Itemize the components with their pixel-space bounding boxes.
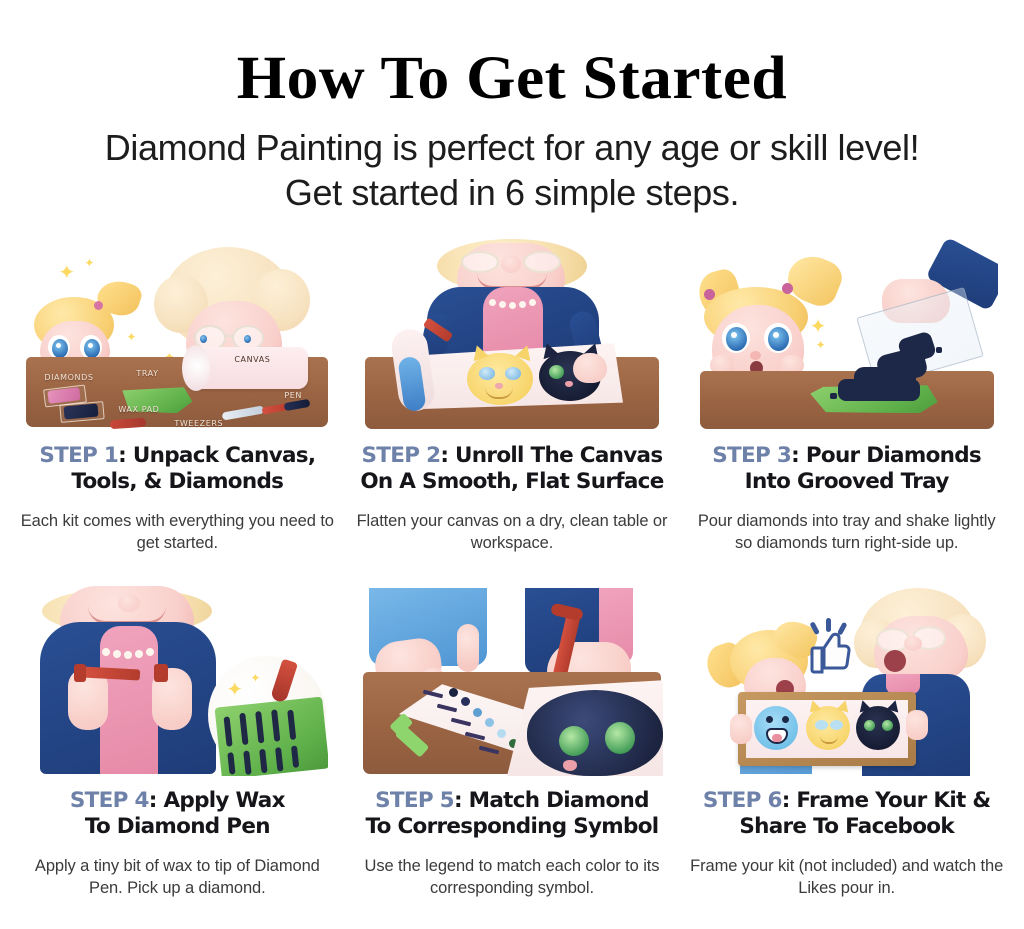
step-separator: : [440, 443, 448, 468]
step-card-2: STEP 2: Unroll The Canvas On A Smooth, F… [345, 239, 680, 584]
eyeglasses-bridge [225, 335, 233, 337]
step-description-5: Use the legend to match each color to it… [354, 855, 670, 900]
nose [904, 636, 922, 651]
girl-hand [730, 714, 752, 744]
framed-finished-painting-illustration [696, 584, 998, 776]
cat-eye [882, 720, 893, 731]
girl-eye-iris [768, 327, 789, 351]
step-title-line1: Frame Your Kit & [796, 788, 990, 813]
step-title-line1: Unroll The Canvas [455, 443, 662, 468]
matching-symbol-legend-illustration [361, 584, 663, 776]
step-title-line2: To Corresponding Symbol [366, 814, 659, 839]
step-title-line2: Share To Facebook [739, 814, 954, 839]
pouring-diamonds-into-tray-illustration: ✦ ✦ [696, 239, 998, 431]
step-description-1: Each kit comes with everything you need … [19, 510, 335, 555]
step-title-line1: Unpack Canvas, [133, 443, 315, 468]
step-card-3: ✦ ✦ [679, 239, 1014, 584]
step-separator: : [118, 443, 126, 468]
sparkle-icon: ✦ [126, 331, 136, 343]
step-title-6: STEP 6: Frame Your Kit & Share To Facebo… [692, 788, 1002, 840]
sparkle-icon: ✦ [58, 263, 75, 283]
cat-eye [605, 722, 635, 754]
pearl-necklace [102, 646, 156, 656]
grandmother-hand [906, 710, 928, 740]
step-title-line2: To Diamond Pen [85, 814, 270, 839]
black-cat-face [527, 690, 663, 776]
step-title-line2: On A Smooth, Flat Surface [360, 469, 663, 494]
step-description-2: Flatten your canvas on a dry, clean tabl… [354, 510, 670, 555]
steps-grid: ✦ ✦ ✦ ✦ [0, 239, 1024, 929]
step-title-line1: Pour Diamonds [806, 443, 981, 468]
step-title-5: STEP 5: Match Diamond To Corresponding S… [357, 788, 667, 840]
wax-container [154, 664, 168, 682]
step-title-4: STEP 4: Apply Wax To Diamond Pen [22, 788, 332, 840]
unrolling-canvas-illustration [361, 239, 663, 431]
step-title-3: STEP 3: Pour Diamonds Into Grooved Tray [692, 443, 1002, 495]
step-card-4: ✦ ✦ ✦ STEP 4: Ap [10, 584, 345, 929]
page-title: How To Get Started [0, 48, 1024, 109]
header: How To Get Started Diamond Painting is p… [0, 0, 1024, 215]
label-diamonds: DIAMONDS [44, 373, 93, 382]
step-title-2: STEP 2: Unroll The Canvas On A Smooth, F… [357, 443, 667, 495]
step-title-1: STEP 1: Unpack Canvas, Tools, & Diamonds [22, 443, 332, 495]
step-title-line1: Match Diamond [469, 788, 649, 813]
cat-eye [864, 720, 875, 731]
diamond-pile [838, 335, 948, 401]
girl-eye-iris [726, 327, 747, 351]
label-wax-pad: WAX PAD [118, 405, 159, 414]
sparkle-icon: ✦ [816, 339, 826, 351]
infographic-page: How To Get Started Diamond Painting is p… [0, 0, 1024, 922]
step-separator: : [454, 788, 462, 813]
supplies-on-table-illustration: ✦ ✦ ✦ ✦ [26, 239, 328, 431]
label-tweezers: TWEEZERS [174, 419, 223, 428]
label-tray: TRAY [136, 369, 158, 378]
step-title-line2: Tools, & Diamonds [71, 469, 283, 494]
page-subtitle: Diamond Painting is perfect for any age … [0, 126, 1024, 215]
laughing-mouth [884, 650, 906, 672]
step-description-4: Apply a tiny bit of wax to tip of Diamon… [19, 855, 335, 900]
sparkle-icon: ✦ [810, 317, 827, 337]
pen-tip [74, 664, 86, 682]
eye-highlight [731, 332, 737, 338]
step-separator: : [791, 443, 799, 468]
label-canvas: CANVAS [234, 355, 270, 364]
sparkle-icon: ✦ [250, 672, 260, 684]
step-number-4: STEP 4 [70, 788, 149, 813]
step-title-line1: Apply Wax [163, 788, 284, 813]
sparkle-icon: ✦ [226, 680, 243, 700]
pearl-necklace [489, 299, 537, 309]
black-cat-face [856, 706, 900, 750]
step-number-5: STEP 5 [375, 788, 454, 813]
step-number-3: STEP 3 [712, 443, 791, 468]
hair-tie [704, 289, 715, 300]
wax-pad [110, 418, 147, 429]
step-separator: : [782, 788, 790, 813]
label-pen: PEN [284, 391, 302, 400]
cat-eye [815, 720, 828, 730]
cat-eye [830, 720, 843, 730]
cat-eye [782, 716, 789, 723]
grooved-tray-zoomed [215, 697, 328, 776]
step-number-1: STEP 1 [39, 443, 118, 468]
pink-top [886, 674, 920, 694]
step-number-2: STEP 2 [362, 443, 441, 468]
step-description-6: Frame your kit (not included) and watch … [689, 855, 1005, 900]
eye-highlight [773, 332, 779, 338]
right-hand [573, 353, 607, 383]
step-title-line2: Into Grooved Tray [745, 469, 949, 494]
cat-tongue [772, 734, 782, 742]
applying-wax-to-pen-illustration: ✦ ✦ ✦ [26, 584, 328, 776]
step-separator: : [149, 788, 157, 813]
hair-tie [782, 283, 793, 294]
facebook-thumbs-up-icon [806, 618, 852, 674]
step-number-6: STEP 6 [703, 788, 782, 813]
step-description-3: Pour diamonds into tray and shake lightl… [689, 510, 1005, 555]
nose [750, 351, 761, 360]
cat-eye [766, 716, 773, 723]
child-arm [457, 624, 479, 672]
sparkle-icon: ✦ [84, 257, 94, 269]
step-card-1: ✦ ✦ ✦ ✦ [10, 239, 345, 584]
step-card-5: STEP 5: Match Diamond To Corresponding S… [345, 584, 680, 929]
step-card-6: STEP 6: Frame Your Kit & Share To Facebo… [679, 584, 1014, 929]
